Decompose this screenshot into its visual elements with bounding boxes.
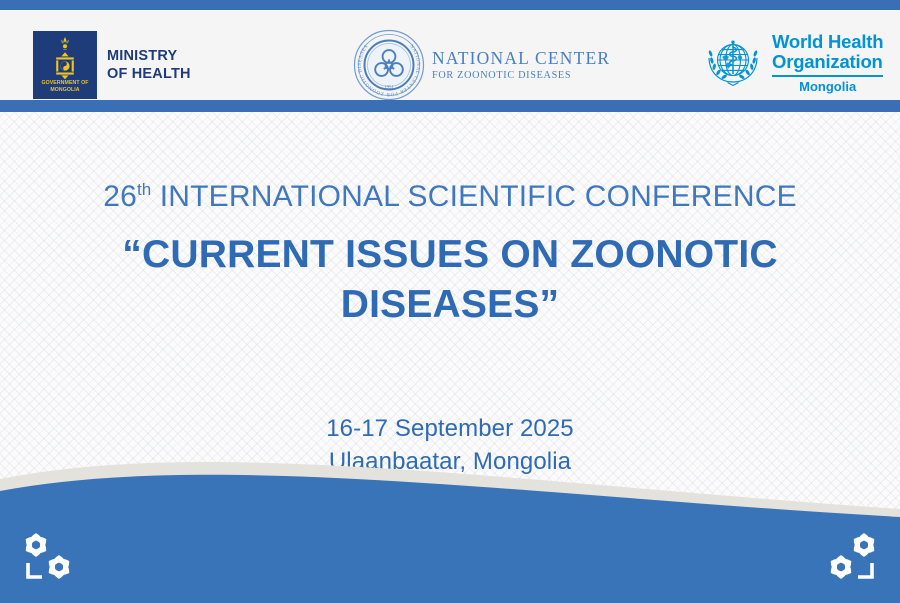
badge-line-1: GOVERNMENT OF <box>33 80 97 87</box>
conference-ordinal-suffix: th <box>137 180 151 199</box>
soyombo-icon <box>50 36 80 80</box>
national-center-name: NATIONAL CENTER FOR ZOONOTIC DISEASES <box>432 48 610 83</box>
ministry-name-line-1: MINISTRY <box>107 47 191 65</box>
ministry-name-line-2: OF HEALTH <box>107 65 191 83</box>
who-country-label: Mongolia <box>772 79 883 94</box>
ornament-right-ulzii-knot <box>814 526 886 588</box>
logo-header-band: GOVERNMENT OF MONGOLIA MINISTRY OF HEALT… <box>0 10 900 100</box>
conference-number: 26 <box>103 180 137 213</box>
government-of-mongolia-badge: GOVERNMENT OF MONGOLIA <box>33 31 97 99</box>
who-name-line-2: Organization <box>772 52 883 72</box>
ncz-name-line-2: FOR ZOONOTIC DISEASES <box>432 69 610 83</box>
ministry-of-health-name: MINISTRY OF HEALTH <box>107 47 191 83</box>
ministry-of-health-logo: GOVERNMENT OF MONGOLIA MINISTRY OF HEALT… <box>33 31 191 99</box>
ncz-name-line-1: NATIONAL CENTER <box>432 48 610 69</box>
ornament-left-ulzii-knot <box>14 526 86 588</box>
badge-line-2: MONGOLIA <box>33 87 97 94</box>
wave-blue-band <box>0 475 900 603</box>
national-center-zoonotic-diseases-logo: NATIONAL CENTER FOR ZOONOTIC DISEASES 19… <box>352 28 610 102</box>
government-badge-caption: GOVERNMENT OF MONGOLIA <box>33 80 97 94</box>
national-center-seal-icon: NATIONAL CENTER FOR ZOONOTIC DISEASES 19… <box>352 28 426 102</box>
who-logo: World Health Organization Mongolia <box>700 30 883 96</box>
who-divider-rule <box>772 75 883 77</box>
header-divider-bar <box>0 100 900 112</box>
page-title: “CURRENT ISSUES ON ZOONOTIC DISEASES” <box>0 230 900 330</box>
conference-subtitle: 26th INTERNATIONAL SCIENTIFIC CONFERENCE <box>0 170 900 217</box>
conference-title-slide: GOVERNMENT OF MONGOLIA MINISTRY OF HEALT… <box>0 0 900 603</box>
who-name-block: World Health Organization Mongolia <box>772 32 883 94</box>
top-accent-bar <box>0 0 900 10</box>
who-emblem-icon <box>700 30 766 96</box>
who-name-line-1: World Health <box>772 32 883 52</box>
bottom-wave-decoration <box>0 443 900 603</box>
event-dates: 16-17 September 2025 <box>0 412 900 445</box>
conference-label: INTERNATIONAL SCIENTIFIC CONFERENCE <box>160 180 797 213</box>
title-block: 26th INTERNATIONAL SCIENTIFIC CONFERENCE… <box>0 170 900 330</box>
seal-year-text: 1951 <box>384 86 395 91</box>
